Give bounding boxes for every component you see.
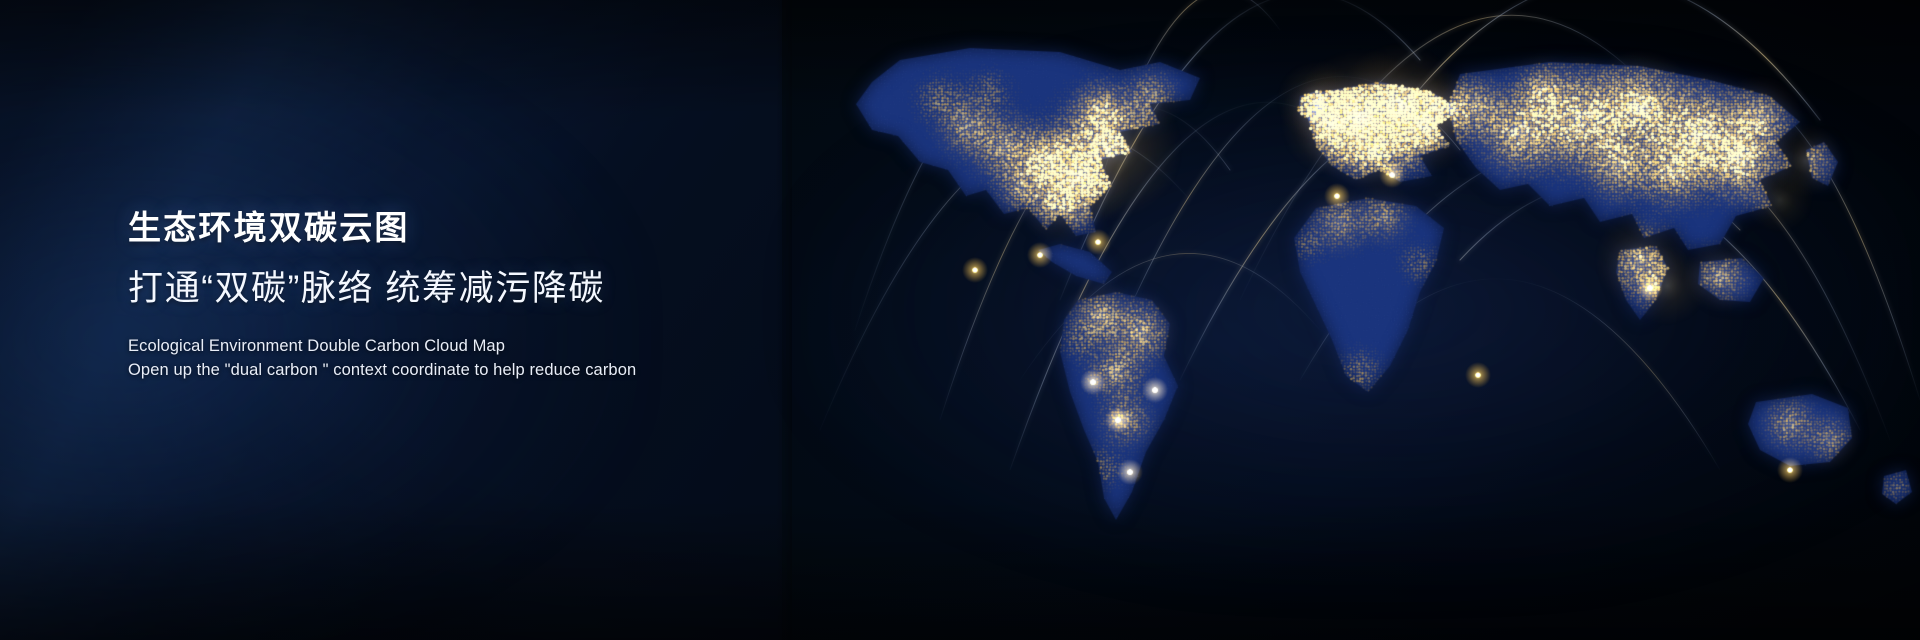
banner-copy-block: 生态环境双碳云图 打通“双碳”脉络 统筹减污降碳 Ecological Envi…: [128, 206, 748, 382]
world-map-graphic: [760, 0, 1920, 640]
banner-english-line-1: Ecological Environment Double Carbon Clo…: [128, 334, 748, 358]
banner-title-chinese: 生态环境双碳云图: [128, 206, 748, 250]
world-map-city-lights-canvas: [760, 0, 1920, 640]
banner-english-line-2: Open up the "dual carbon " context coord…: [128, 358, 748, 382]
banner-subtitle-chinese: 打通“双碳”脉络 统筹减污降碳: [128, 266, 748, 312]
banner-english-block: Ecological Environment Double Carbon Clo…: [128, 334, 748, 382]
carbon-cloud-map-banner: 生态环境双碳云图 打通“双碳”脉络 统筹减污降碳 Ecological Envi…: [0, 0, 1920, 640]
